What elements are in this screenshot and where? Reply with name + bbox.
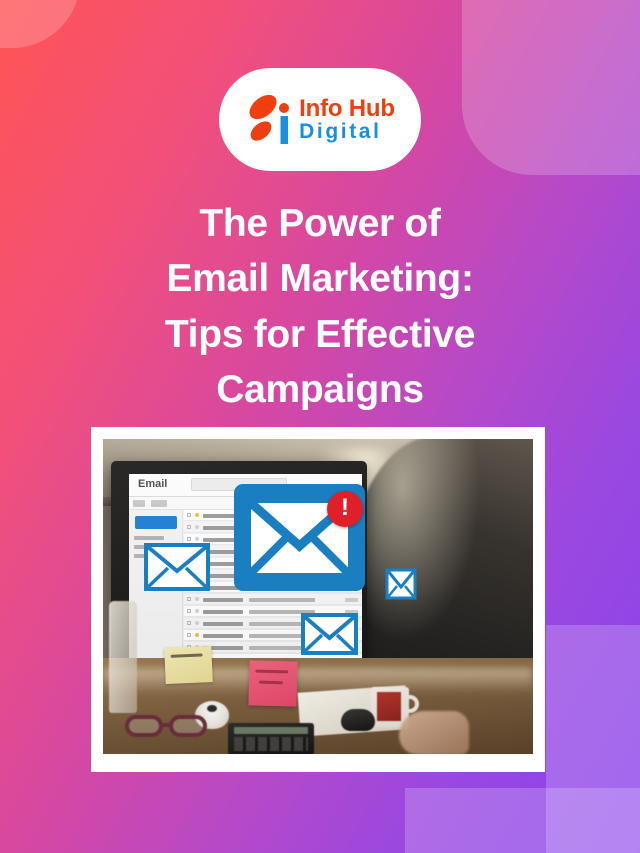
logo-line-primary: Info Hub	[299, 97, 395, 121]
small-envelope-icon-bottom	[301, 613, 358, 655]
poster-canvas: Info Hub Digital The Power of Email Mark…	[0, 0, 640, 853]
small-envelope-icon-left	[144, 543, 210, 591]
alert-badge-symbol: !	[341, 496, 349, 520]
butterfly-logo-icon	[245, 92, 297, 148]
title-line-3: Tips for Effective	[48, 307, 592, 362]
decor-shape-top-left	[0, 0, 80, 48]
logo-wordmark: Info Hub Digital	[299, 97, 395, 142]
photo-frame: Email	[91, 427, 545, 772]
logo-line-secondary: Digital	[299, 121, 395, 142]
small-envelope-icon-right	[385, 566, 417, 602]
decor-shape-top-right	[462, 0, 640, 175]
title-line-4: Campaigns	[48, 362, 592, 417]
logo: Info Hub Digital	[245, 92, 395, 148]
page-title: The Power of Email Marketing: Tips for E…	[48, 196, 592, 418]
title-line-1: The Power of	[48, 196, 592, 251]
logo-badge: Info Hub Digital	[219, 68, 421, 171]
alert-badge: !	[327, 491, 363, 527]
decor-shape-bottom-band	[405, 788, 640, 853]
decor-shape-bottom-right	[546, 625, 640, 853]
title-line-2: Email Marketing:	[48, 251, 592, 306]
